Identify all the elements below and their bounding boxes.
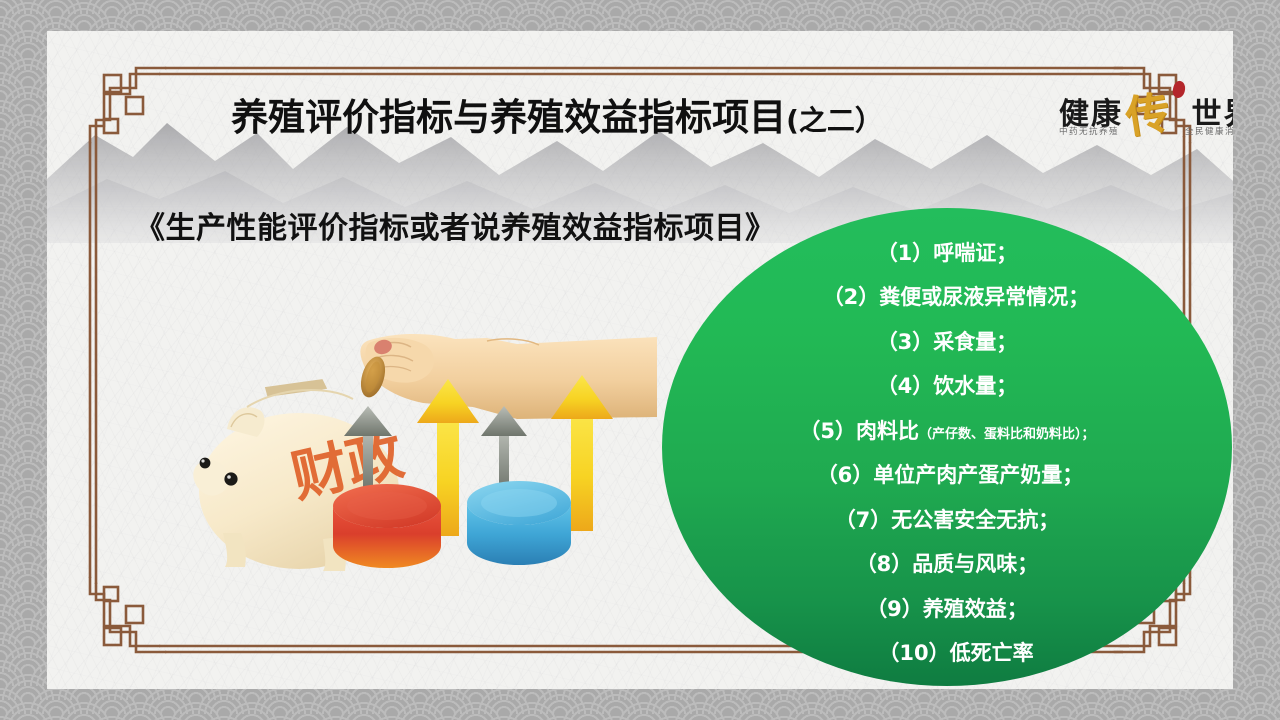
list-item-text: （7）无公害安全无抗； (835, 508, 1060, 532)
list-item-text: （10）低死亡率 (878, 641, 1033, 665)
brand-logo: 健康 世界 传 中药无抗养殖 全民健康消费 (1059, 83, 1233, 149)
green-ellipse-panel: （1）呼喘证； （2）粪便或尿液异常情况； （3）采食量； （4）饮水量； （5… (662, 208, 1232, 686)
list-item: （10）低死亡率 (680, 642, 1214, 664)
list-item: （9）养殖效益； (680, 598, 1214, 620)
list-item: （4）饮水量； (680, 375, 1214, 397)
list-item-text: （6）单位产肉产蛋产奶量； (817, 463, 1084, 487)
page-title-main: 养殖评价指标与养殖效益指标项目 (231, 96, 786, 139)
list-item-text: （2）粪便或尿液异常情况； (823, 285, 1090, 309)
list-item-text: （3）采食量； (877, 330, 1018, 354)
list-item: （3）采食量； (680, 331, 1214, 353)
list-item-note: （产仔数、蛋料比和奶料比）； (919, 427, 1095, 442)
slide-root: 财政 (0, 0, 1280, 720)
list-item-text: （9）养殖效益； (866, 597, 1028, 621)
page-title-suffix: (之二） (786, 104, 883, 137)
logo-tagline-right: 全民健康消费 (1185, 125, 1233, 141)
list-item: （8）品质与风味； (680, 553, 1214, 575)
list-item: （1）呼喘证； (680, 242, 1214, 264)
indicator-list: （1）呼喘证； （2）粪便或尿液异常情况； （3）采食量； （4）饮水量； （5… (662, 208, 1232, 686)
list-item-text: （1）呼喘证； (877, 241, 1018, 265)
page-title: 养殖评价指标与养殖效益指标项目(之二） (47, 87, 1067, 141)
logo-tagline-left: 中药无抗养殖 (1059, 125, 1119, 141)
hand-arm-shape (360, 334, 657, 419)
list-item: （5）肉料比（产仔数、蛋料比和奶料比）； (680, 420, 1214, 442)
list-item: （6）单位产肉产蛋产奶量； (680, 464, 1214, 486)
logo-tagline: 中药无抗养殖 全民健康消费 (1059, 125, 1233, 141)
paper-panel: 财政 (47, 31, 1233, 689)
list-item-text: （5）肉料比 (799, 419, 919, 443)
list-item: （2）粪便或尿液异常情况； (680, 286, 1214, 308)
piggy-bank-growth-illustration: 财政 (187, 311, 657, 651)
list-item-text: （4）饮水量； (877, 374, 1018, 398)
list-item-text: （8）品质与风味； (856, 552, 1039, 576)
list-item: （7）无公害安全无抗； (680, 509, 1214, 531)
